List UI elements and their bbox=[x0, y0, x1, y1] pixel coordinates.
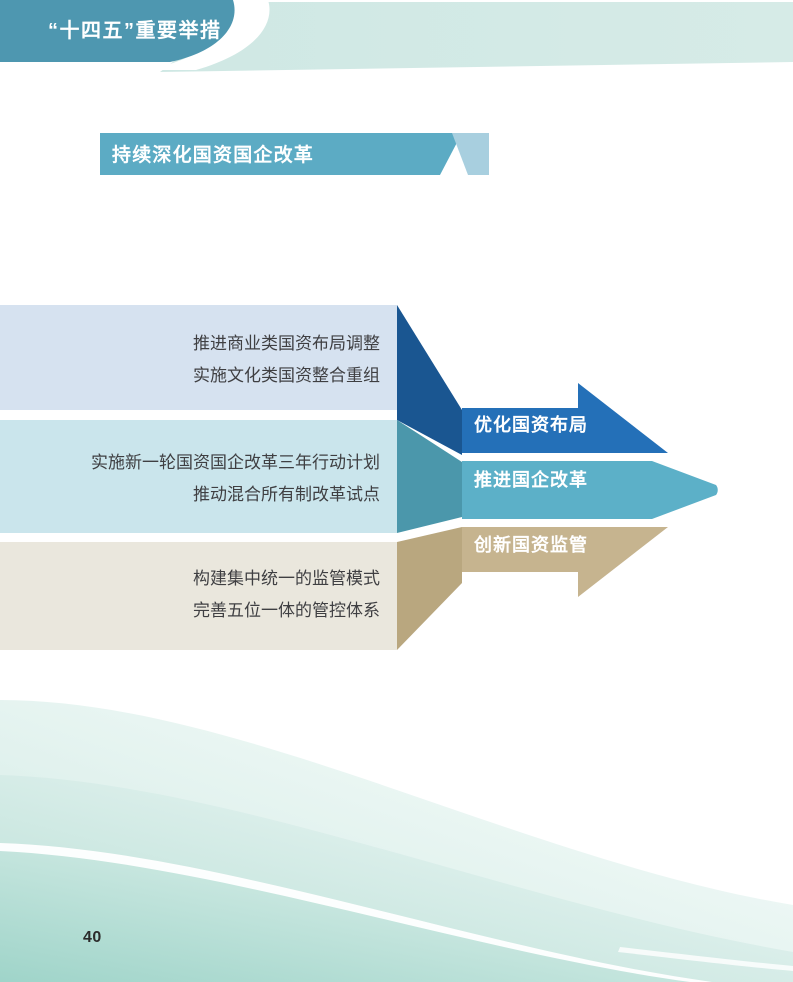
page-number: 40 bbox=[83, 929, 102, 947]
panel-line: 实施文化类国资整合重组 bbox=[40, 360, 380, 392]
page-canvas: “十四五”重要举措 持续深化国资国企改革 推进商业类国资布局调整 bbox=[0, 0, 793, 982]
strategy-diagram: 推进商业类国资布局调整 实施文化类国资整合重组 实施新一轮国资国企改革三年行动计… bbox=[0, 295, 793, 665]
panel-text-2: 实施新一轮国资国企改革三年行动计划 推动混合所有制改革试点 bbox=[18, 447, 380, 511]
panel-line: 推动混合所有制改革试点 bbox=[18, 479, 380, 511]
connector-3 bbox=[397, 527, 462, 650]
panel-line: 完善五位一体的管控体系 bbox=[40, 595, 380, 627]
arrow-label-3: 创新国资监管 bbox=[474, 531, 588, 557]
panel-text-3: 构建集中统一的监管模式 完善五位一体的管控体系 bbox=[40, 563, 380, 627]
arrow-label-2: 推进国企改革 bbox=[474, 466, 588, 492]
panel-line: 构建集中统一的监管模式 bbox=[40, 563, 380, 595]
arrow-label-1: 优化国资布局 bbox=[474, 411, 588, 437]
panel-line: 实施新一轮国资国企改革三年行动计划 bbox=[18, 447, 380, 479]
header-title: “十四五”重要举措 bbox=[48, 14, 263, 43]
panel-line: 推进商业类国资布局调整 bbox=[40, 328, 380, 360]
section-title: 持续深化国资国企改革 bbox=[112, 140, 314, 167]
panel-text-1: 推进商业类国资布局调整 实施文化类国资整合重组 bbox=[40, 328, 380, 392]
